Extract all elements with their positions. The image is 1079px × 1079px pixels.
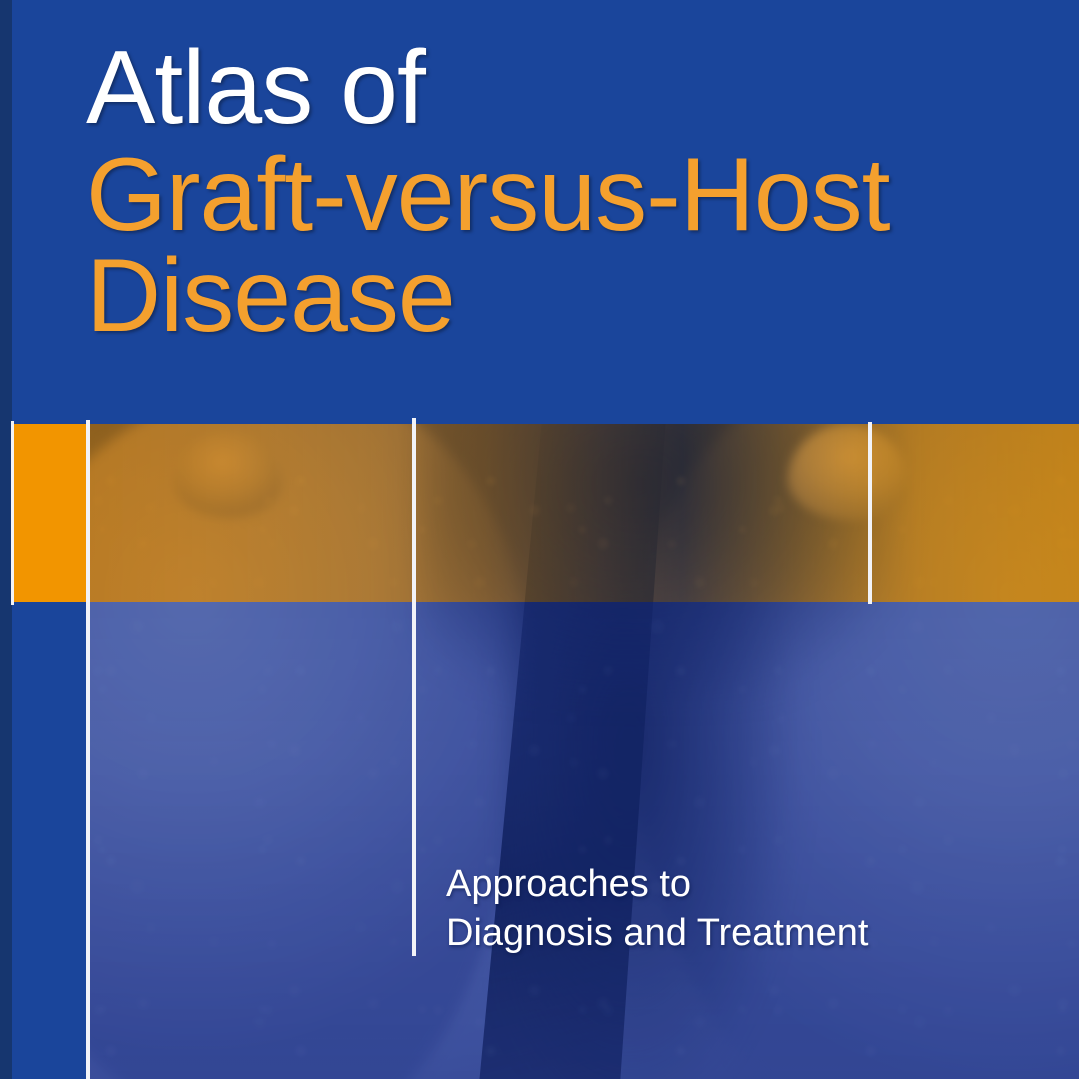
subtitle-line-diagnosis-and-treatment: Diagnosis and Treatment	[446, 909, 1006, 958]
photograph-artwork	[88, 602, 1079, 1079]
cover-subtitle-block: Approaches to Diagnosis and Treatment	[446, 860, 1006, 959]
book-cover: Atlas of Graft-versus-Host Disease Appro…	[0, 0, 1079, 1079]
rule-left-vertical	[86, 420, 90, 1079]
orange-solid-block	[12, 424, 89, 602]
orange-band	[12, 424, 1079, 602]
rule-right-vertical	[868, 422, 872, 604]
title-line-graft-versus-host: Graft-versus-Host	[86, 140, 1026, 251]
cover-photograph-lower	[88, 602, 1079, 1079]
title-line-disease: Disease	[86, 241, 1026, 352]
subtitle-line-approaches-to: Approaches to	[446, 860, 1006, 909]
rule-center-vertical	[412, 418, 416, 956]
orange-band-wash	[88, 424, 1079, 602]
rule-left-edge	[11, 421, 14, 605]
title-line-atlas-of: Atlas of	[86, 38, 1026, 140]
cover-title-block: Atlas of Graft-versus-Host Disease	[86, 38, 1026, 352]
photo-blue-wash	[88, 602, 1079, 1079]
